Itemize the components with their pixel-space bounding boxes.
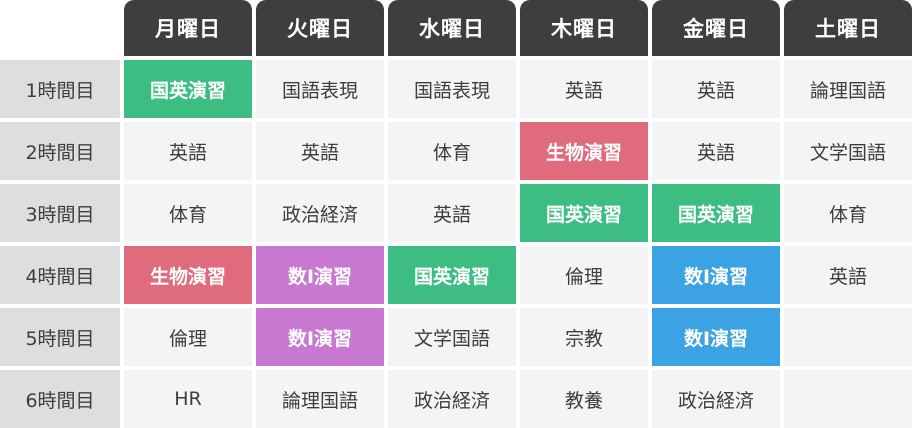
timetable-cell-monday-period-6[interactable]: HR xyxy=(124,370,252,428)
column-header-monday: 月曜日 xyxy=(124,0,252,56)
row-label-period-1: 1時間目 xyxy=(0,60,120,118)
timetable-cell-friday-period-1[interactable]: 英語 xyxy=(652,60,780,118)
row-label-period-6: 6時間目 xyxy=(0,370,120,428)
column-header-saturday: 土曜日 xyxy=(784,0,912,56)
timetable-cell-wednesday-period-4[interactable]: 国英演習 xyxy=(388,246,516,304)
timetable-cell-friday-period-4[interactable]: 数I演習 xyxy=(652,246,780,304)
timetable-cell-empty-saturday-period-6[interactable] xyxy=(784,370,912,428)
timetable-cell-wednesday-period-3[interactable]: 英語 xyxy=(388,184,516,242)
timetable-cell-monday-period-3[interactable]: 体育 xyxy=(124,184,252,242)
row-label-period-4: 4時間目 xyxy=(0,246,120,304)
column-header-friday: 金曜日 xyxy=(652,0,780,56)
timetable-cell-monday-period-4[interactable]: 生物演習 xyxy=(124,246,252,304)
timetable-cell-tuesday-period-1[interactable]: 国語表現 xyxy=(256,60,384,118)
timetable-cell-tuesday-period-2[interactable]: 英語 xyxy=(256,122,384,180)
column-header-thursday: 木曜日 xyxy=(520,0,648,56)
timetable-cell-saturday-period-4[interactable]: 英語 xyxy=(784,246,912,304)
timetable-cell-monday-period-5[interactable]: 倫理 xyxy=(124,308,252,366)
timetable-cell-wednesday-period-2[interactable]: 体育 xyxy=(388,122,516,180)
timetable-cell-wednesday-period-6[interactable]: 政治経済 xyxy=(388,370,516,428)
timetable-cell-tuesday-period-5[interactable]: 数I演習 xyxy=(256,308,384,366)
timetable-cell-saturday-period-3[interactable]: 体育 xyxy=(784,184,912,242)
timetable-cell-thursday-period-2[interactable]: 生物演習 xyxy=(520,122,648,180)
timetable-cell-tuesday-period-4[interactable]: 数I演習 xyxy=(256,246,384,304)
timetable-cell-saturday-period-2[interactable]: 文学国語 xyxy=(784,122,912,180)
timetable-cell-tuesday-period-3[interactable]: 政治経済 xyxy=(256,184,384,242)
timetable-cell-thursday-period-6[interactable]: 教養 xyxy=(520,370,648,428)
timetable-grid: 月曜日火曜日水曜日木曜日金曜日土曜日1時間目国英演習国語表現国語表現英語英語論理… xyxy=(0,0,912,428)
timetable-cell-wednesday-period-1[interactable]: 国語表現 xyxy=(388,60,516,118)
timetable-cell-friday-period-5[interactable]: 数I演習 xyxy=(652,308,780,366)
timetable-cell-thursday-period-3[interactable]: 国英演習 xyxy=(520,184,648,242)
row-label-period-3: 3時間目 xyxy=(0,184,120,242)
timetable-cell-empty-saturday-period-5[interactable] xyxy=(784,308,912,366)
timetable-cell-thursday-period-5[interactable]: 宗教 xyxy=(520,308,648,366)
column-header-tuesday: 火曜日 xyxy=(256,0,384,56)
timetable-cell-thursday-period-4[interactable]: 倫理 xyxy=(520,246,648,304)
row-label-period-2: 2時間目 xyxy=(0,122,120,180)
column-header-wednesday: 水曜日 xyxy=(388,0,516,56)
timetable-cell-monday-period-2[interactable]: 英語 xyxy=(124,122,252,180)
timetable-cell-wednesday-period-5[interactable]: 文学国語 xyxy=(388,308,516,366)
timetable-cell-saturday-period-1[interactable]: 論理国語 xyxy=(784,60,912,118)
timetable-cell-friday-period-6[interactable]: 政治経済 xyxy=(652,370,780,428)
timetable-cell-friday-period-2[interactable]: 英語 xyxy=(652,122,780,180)
timetable-cell-tuesday-period-6[interactable]: 論理国語 xyxy=(256,370,384,428)
timetable-cell-monday-period-1[interactable]: 国英演習 xyxy=(124,60,252,118)
timetable-cell-friday-period-3[interactable]: 国英演習 xyxy=(652,184,780,242)
row-label-period-5: 5時間目 xyxy=(0,308,120,366)
table-corner xyxy=(0,0,120,56)
timetable-cell-thursday-period-1[interactable]: 英語 xyxy=(520,60,648,118)
